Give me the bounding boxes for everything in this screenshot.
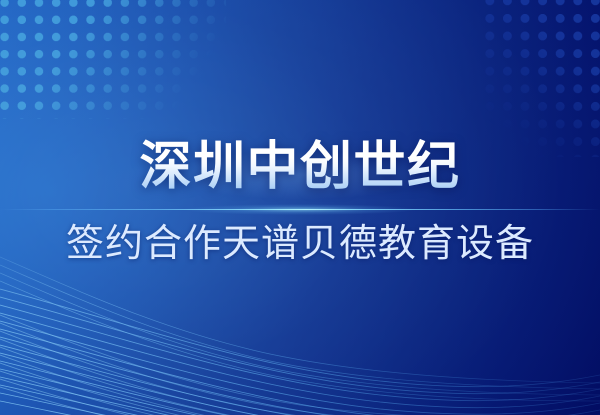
page-subtitle: 签约合作天谱贝德教育设备 <box>0 219 600 269</box>
banner-content: 深圳中创世纪 签约合作天谱贝德教育设备 <box>0 0 600 415</box>
divider-core <box>0 209 600 211</box>
divider-line <box>0 207 600 212</box>
divider-glow <box>150 202 450 217</box>
page-title: 深圳中创世纪 <box>0 138 600 196</box>
promo-banner: 深圳中创世纪 签约合作天谱贝德教育设备 <box>0 0 600 415</box>
